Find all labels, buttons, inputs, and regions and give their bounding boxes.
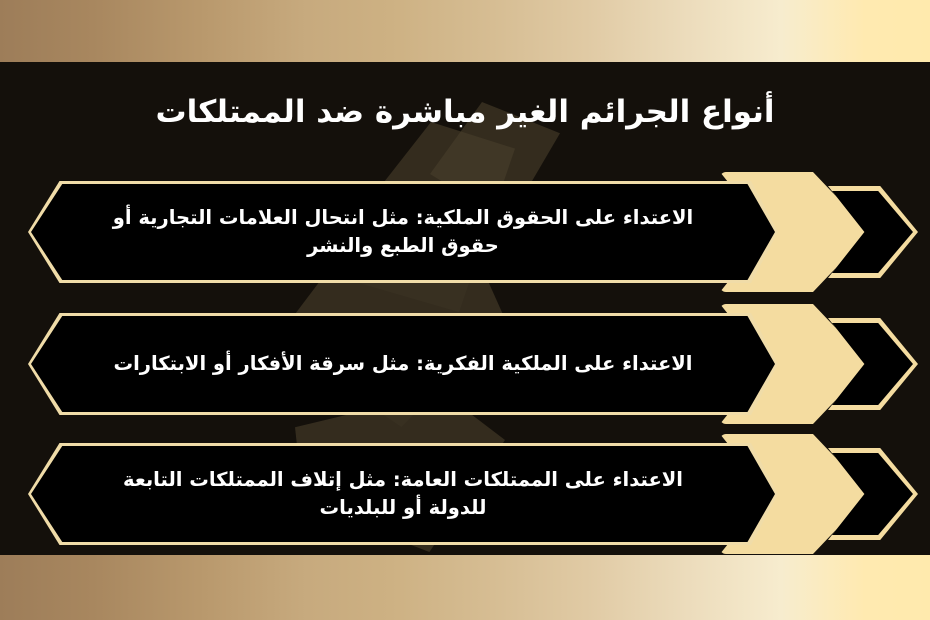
item-pill[interactable]: الاعتداء على الملكية الفكرية: مثل سرقة ا… [28,313,778,415]
item-pill[interactable]: الاعتداء على الحقوق الملكية: مثل انتحال … [28,181,778,283]
item-text: الاعتداء على الحقوق الملكية: مثل انتحال … [53,204,753,261]
item-pill-inner: الاعتداء على الممتلكات العامة: مثل إتلاف… [31,446,775,542]
item-pill-inner: الاعتداء على الحقوق الملكية: مثل انتحال … [31,184,775,280]
item-text: الاعتداء على الممتلكات العامة: مثل إتلاف… [53,466,753,523]
top-gold-band [0,0,930,62]
list-item[interactable]: الاعتداء على الحقوق الملكية: مثل انتحال … [0,168,930,296]
page-title: أنواع الجرائم الغير مباشرة ضد الممتلكات [0,93,930,132]
bottom-gold-band [0,555,930,620]
infographic-canvas: أنواع الجرائم الغير مباشرة ضد الممتلكات … [0,0,930,620]
list-item[interactable]: الاعتداء على الملكية الفكرية: مثل سرقة ا… [0,300,930,428]
item-pill[interactable]: الاعتداء على الممتلكات العامة: مثل إتلاف… [28,443,778,545]
list-item[interactable]: الاعتداء على الممتلكات العامة: مثل إتلاف… [0,430,930,558]
item-pill-inner: الاعتداء على الملكية الفكرية: مثل سرقة ا… [31,316,775,412]
item-text: الاعتداء على الملكية الفكرية: مثل سرقة ا… [53,350,753,378]
